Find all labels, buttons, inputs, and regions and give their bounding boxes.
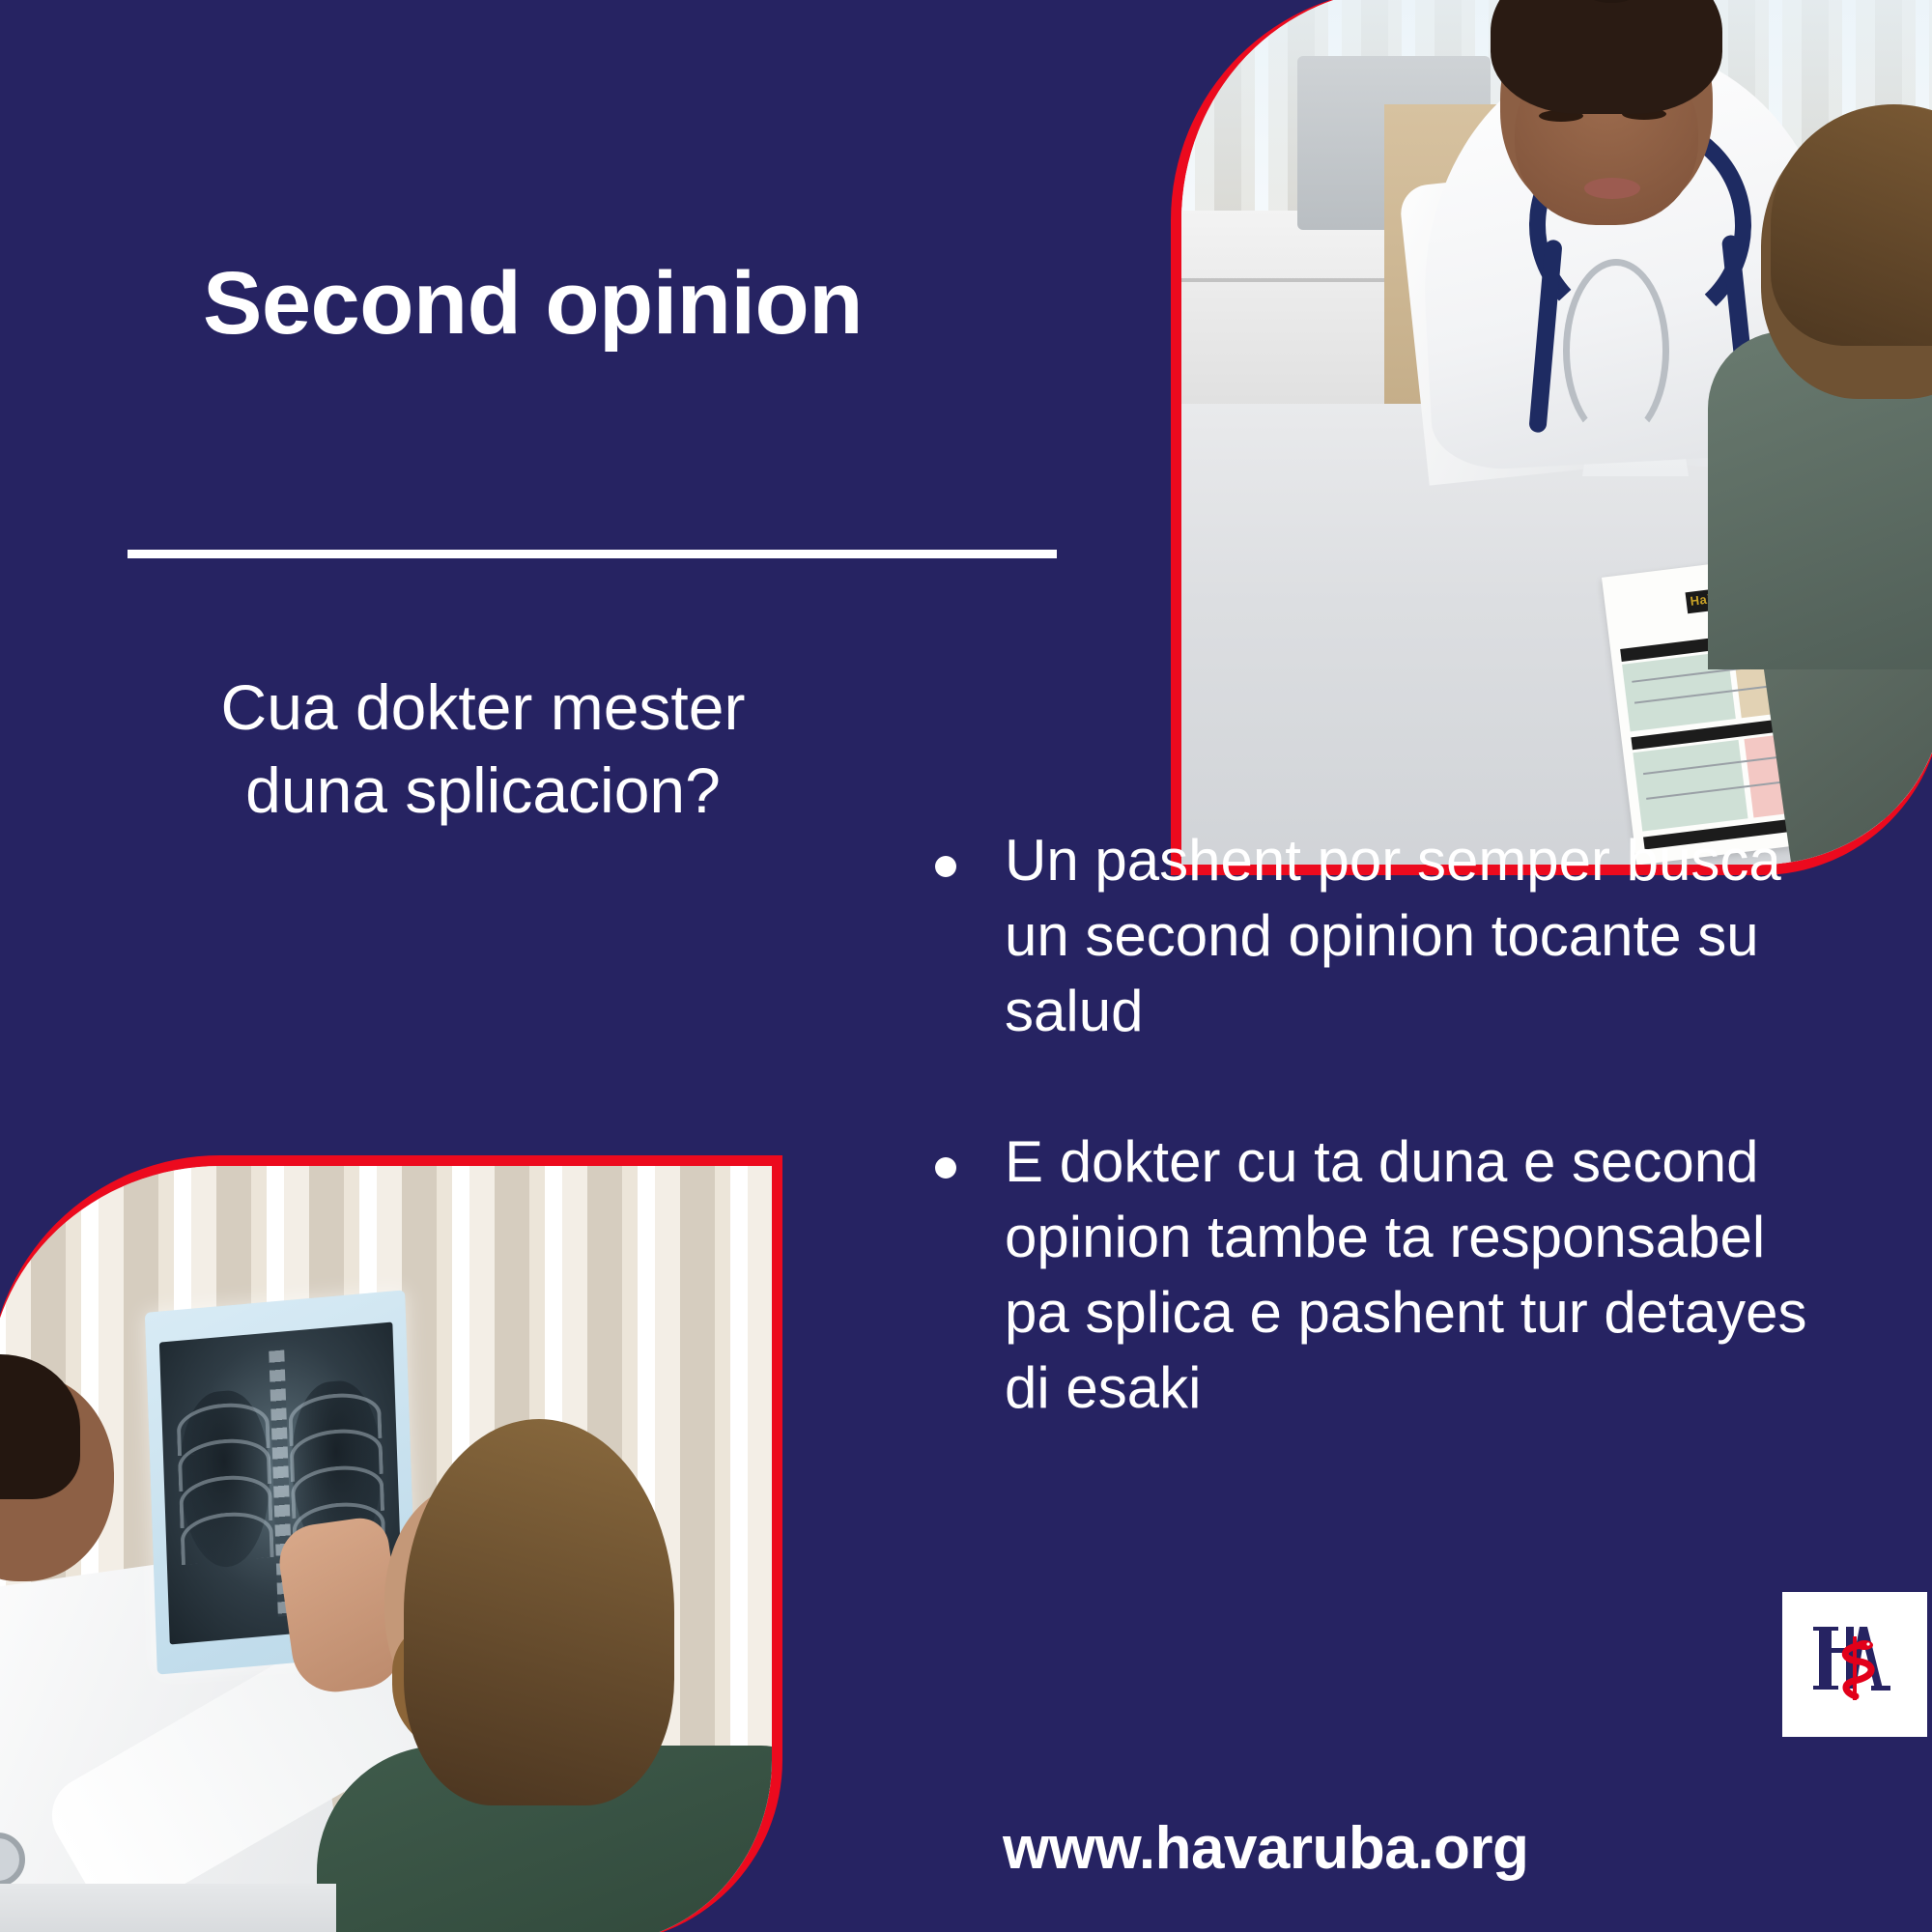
desk-edge [0,1884,336,1932]
list-item: Un pashent por semper busca un second op… [935,823,1882,1049]
doctor-mouth [1584,178,1640,199]
list-item: E dokter cu ta duna e second opinion tam… [935,1124,1882,1426]
poster-canvas: Hair Mineral Analysis [0,0,1932,1932]
photo-content-bottom-left [0,1166,772,1932]
website-url[interactable]: www.havaruba.org [1003,1814,1528,1883]
page-title: Second opinion [203,259,863,348]
bullet-text: Un pashent por semper busca un second op… [1005,823,1835,1049]
doctor-consulting-patient-photo: Hair Mineral Analysis [1171,0,1932,875]
photo-content-top-right: Hair Mineral Analysis [1181,0,1932,865]
ha-caduceus-logo [1782,1592,1927,1737]
bullet-dot-icon [935,856,956,877]
logo-graphic [1782,1592,1927,1737]
patient-hair [404,1419,674,1805]
cabinet-seam [1181,278,1384,282]
doctor-hair [1491,0,1722,114]
stethoscope-metal-brace [1563,259,1669,442]
bullet-dot-icon [935,1157,956,1179]
bullet-list: Un pashent por semper busca un second op… [935,823,1882,1501]
subheading-question: Cua dokter mester duna splicacion? [174,667,792,833]
bullet-text: E dokter cu ta duna e second opinion tam… [1005,1124,1835,1426]
report-cell-green-2 [1633,740,1747,832]
title-divider [128,550,1057,558]
doctor-reviewing-xray-photo [0,1155,782,1932]
